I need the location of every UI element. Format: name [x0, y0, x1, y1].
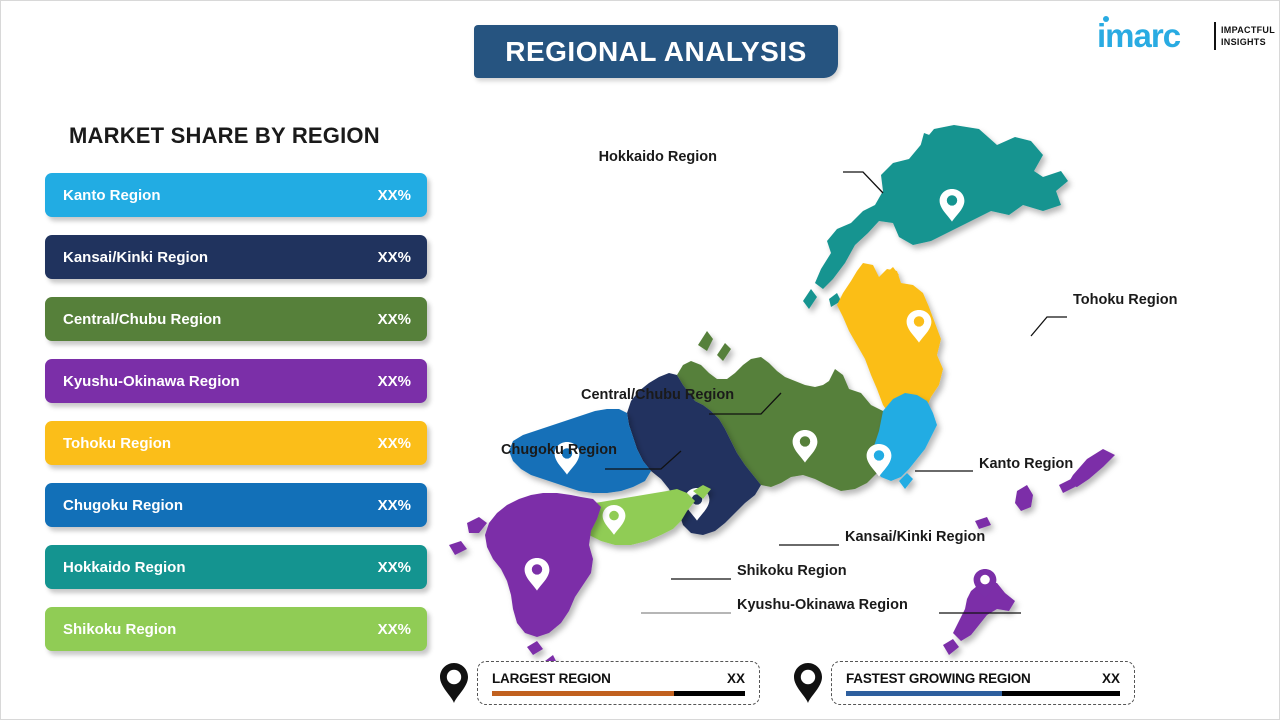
legend-row-value: XX% — [378, 311, 411, 328]
legend-row[interactable]: Chugoku RegionXX% — [45, 483, 427, 527]
map-label-tohoku: Tohoku Region — [1073, 292, 1177, 308]
largest-region-box[interactable]: LARGEST REGION XX — [477, 661, 760, 705]
legend-row[interactable]: Shikoku RegionXX% — [45, 607, 427, 651]
largest-region-stat: LARGEST REGION XX — [439, 661, 760, 705]
legend-row-value: XX% — [378, 621, 411, 638]
largest-region-bar-fill — [492, 691, 674, 696]
map-label-chugoku: Chugoku Region — [501, 442, 617, 458]
legend-row-label: Central/Chubu Region — [63, 311, 378, 328]
map-region-hokkaido[interactable] — [803, 125, 1068, 309]
slide-canvas: REGIONAL ANALYSIS imarc IMPACTFUL INSIGH… — [0, 0, 1280, 720]
legend-row-value: XX% — [378, 497, 411, 514]
japan-map: Hokkaido Region Tohoku Region Central/Ch… — [431, 93, 1151, 663]
map-label-kanto: Kanto Region — [979, 456, 1073, 472]
largest-region-label: LARGEST REGION — [492, 671, 611, 686]
legend-row-label: Chugoku Region — [63, 497, 378, 514]
legend-row-value: XX% — [378, 435, 411, 452]
legend-row[interactable]: Tohoku RegionXX% — [45, 421, 427, 465]
fastest-growing-region-stat: FASTEST GROWING REGION XX — [793, 661, 1135, 705]
map-label-hokkaido: Hokkaido Region — [599, 149, 717, 165]
leader-hokkaido — [843, 172, 883, 193]
legend-list: Kanto RegionXX%Kansai/Kinki RegionXX%Cen… — [45, 173, 445, 669]
legend-row-value: XX% — [378, 559, 411, 576]
legend-row-value: XX% — [378, 187, 411, 204]
fastest-growing-region-bar — [846, 691, 1120, 696]
legend-row-label: Shikoku Region — [63, 621, 378, 638]
legend-row[interactable]: Central/Chubu RegionXX% — [45, 297, 427, 341]
location-pin-icon — [793, 662, 823, 704]
fastest-growing-region-value: XX — [1084, 671, 1120, 686]
location-pin-icon — [439, 662, 469, 704]
legend-row-label: Kansai/Kinki Region — [63, 249, 378, 266]
largest-region-bar-rest — [674, 691, 745, 696]
legend-row[interactable]: Hokkaido RegionXX% — [45, 545, 427, 589]
legend-row-label: Hokkaido Region — [63, 559, 378, 576]
legend-row[interactable]: Kyushu-Okinawa RegionXX% — [45, 359, 427, 403]
map-label-chubu: Central/Chubu Region — [581, 387, 734, 403]
map-label-kyushu: Kyushu-Okinawa Region — [737, 597, 908, 613]
map-region-kanto[interactable] — [871, 393, 937, 489]
logo-tagline-line2: INSIGHTS — [1221, 37, 1266, 47]
map-label-kansai: Kansai/Kinki Region — [845, 529, 985, 545]
legend-row-label: Tohoku Region — [63, 435, 378, 452]
legend-row-value: XX% — [378, 249, 411, 266]
fastest-growing-region-box[interactable]: FASTEST GROWING REGION XX — [831, 661, 1135, 705]
map-label-shikoku: Shikoku Region — [737, 563, 847, 579]
logo-tagline: IMPACTFUL INSIGHTS — [1221, 24, 1275, 48]
logo-divider — [1214, 22, 1216, 50]
largest-region-value: XX — [709, 671, 745, 686]
legend-row[interactable]: Kansai/Kinki RegionXX% — [45, 235, 427, 279]
largest-region-bar — [492, 691, 745, 696]
legend-row-label: Kyushu-Okinawa Region — [63, 373, 378, 390]
legend-row[interactable]: Kanto RegionXX% — [45, 173, 427, 217]
fastest-growing-region-label: FASTEST GROWING REGION — [846, 671, 1031, 686]
legend-row-label: Kanto Region — [63, 187, 378, 204]
fastest-growing-region-bar-fill — [846, 691, 1002, 696]
page-title-text: REGIONAL ANALYSIS — [505, 36, 807, 68]
imarc-logo: imarc IMPACTFUL INSIGHTS — [1097, 15, 1265, 59]
legend-title: MARKET SHARE BY REGION — [69, 123, 380, 149]
legend-row-value: XX% — [378, 373, 411, 390]
logo-wordmark: imarc — [1097, 19, 1180, 53]
logo-tagline-line1: IMPACTFUL — [1221, 25, 1275, 35]
leader-tohoku — [1031, 317, 1067, 336]
page-title: REGIONAL ANALYSIS — [474, 25, 838, 78]
fastest-growing-region-bar-rest — [1002, 691, 1120, 696]
